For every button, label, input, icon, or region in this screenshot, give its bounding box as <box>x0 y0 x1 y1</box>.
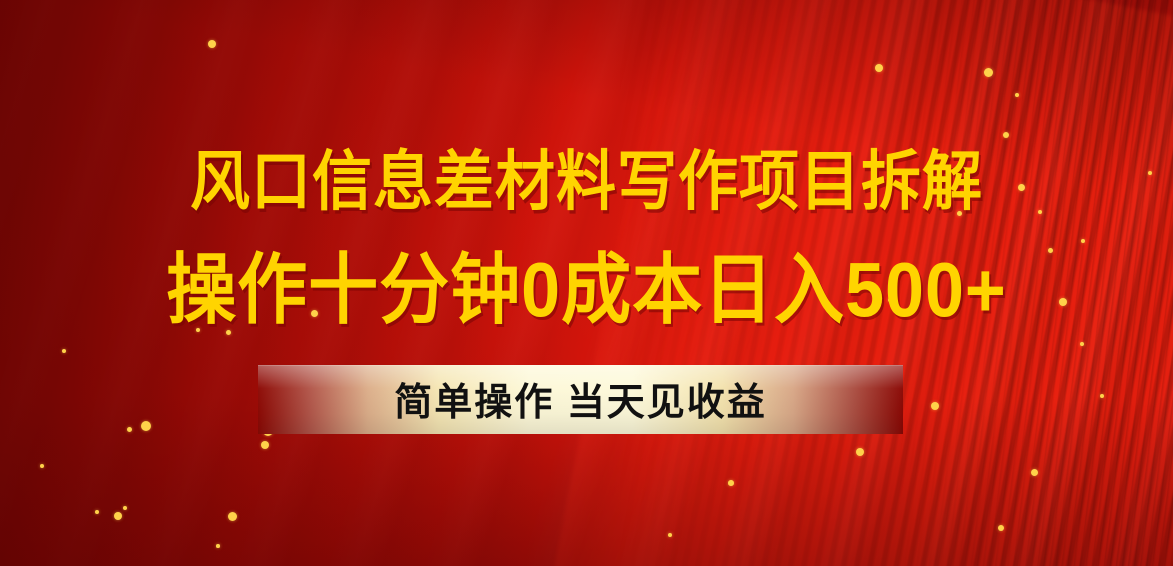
gold-particle <box>1100 394 1104 398</box>
gold-particle <box>984 68 993 77</box>
gold-particle <box>261 441 269 449</box>
gold-particle <box>127 427 132 432</box>
gold-particle <box>228 512 237 521</box>
promo-poster: 风口信息差材料写作项目拆解 操作十分钟0成本日入500+ 简单操作 当天见收益 <box>0 0 1173 566</box>
gold-particle <box>40 464 44 468</box>
gold-ribbon-banner: 简单操作 当天见收益 <box>258 365 903 434</box>
gold-particle <box>668 533 672 537</box>
headline-line-2: 操作十分钟0成本日入500+ <box>0 244 1173 336</box>
ribbon-subtitle-text: 简单操作 当天见收益 <box>258 364 903 433</box>
gold-particle <box>208 40 216 48</box>
gold-particle <box>1015 93 1019 97</box>
gold-particle <box>931 402 939 410</box>
headline-line-1: 风口信息差材料写作项目拆解 <box>0 143 1173 221</box>
gold-particle <box>1081 239 1085 243</box>
gold-particle <box>728 480 734 486</box>
gold-particle <box>856 448 864 456</box>
gold-particle <box>1031 469 1038 476</box>
gold-particle <box>875 64 883 72</box>
gold-particle <box>141 421 151 431</box>
gold-particle <box>123 506 127 510</box>
gold-particle <box>62 349 66 353</box>
gold-particle <box>998 525 1004 531</box>
gold-particle <box>1003 132 1009 138</box>
gold-particle <box>114 512 122 520</box>
gold-particle <box>216 544 220 548</box>
